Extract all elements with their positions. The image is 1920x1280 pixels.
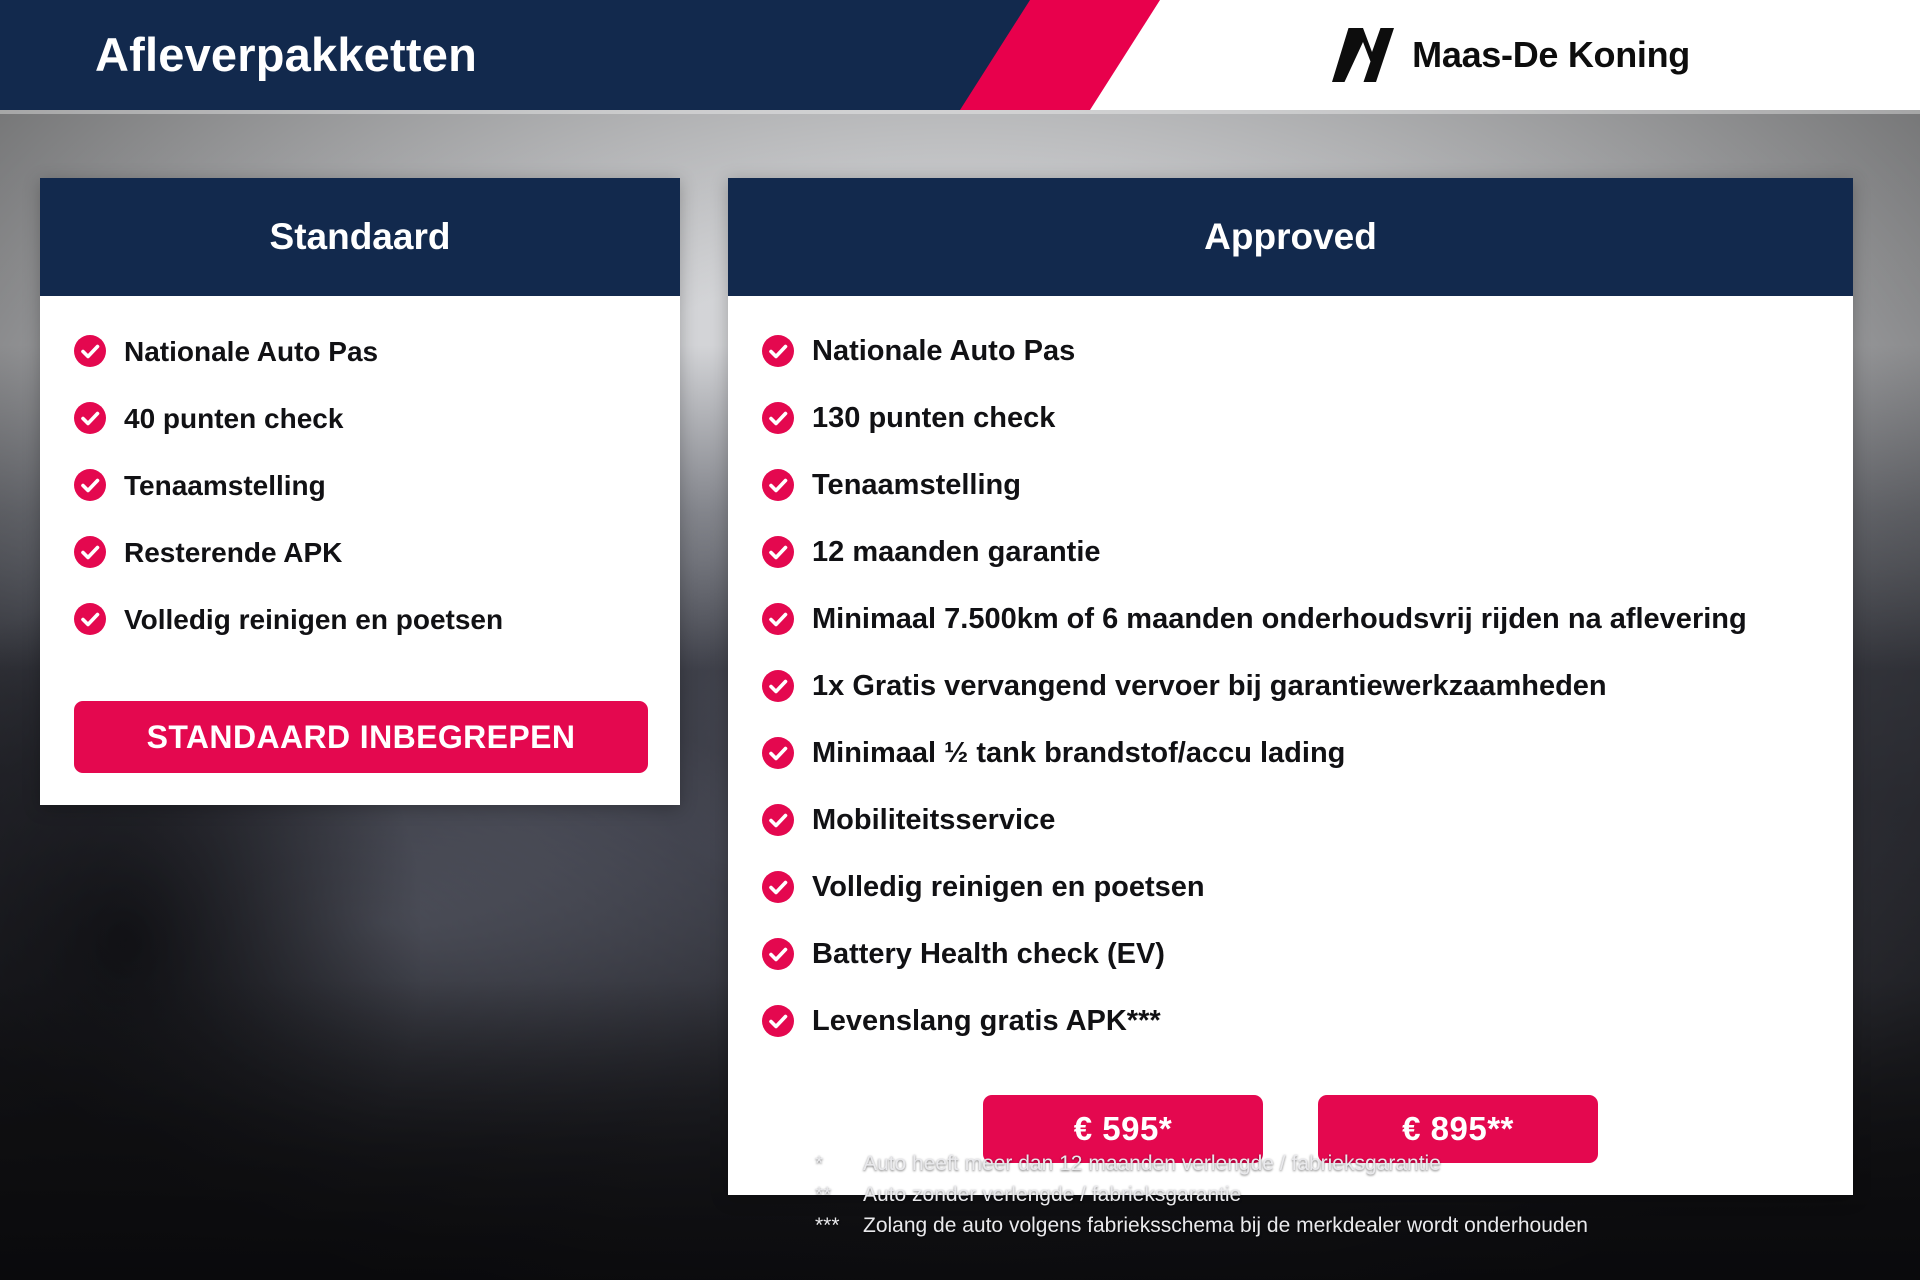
feature-label: Battery Health check (EV) (812, 927, 1819, 982)
page-header: Afleverpakketten Maas-De Koning (0, 0, 1920, 110)
feature-label: Mobiliteitsservice (812, 793, 1819, 848)
feature-item: 12 maanden garantie (728, 525, 1853, 580)
feature-item: Minimaal 7.500km of 6 maanden onderhouds… (728, 592, 1853, 647)
header-underline (0, 110, 1920, 114)
check-circle-icon (762, 737, 794, 769)
check-circle-icon (74, 469, 106, 501)
footnote-marker: *** (815, 1210, 863, 1241)
feature-label: Levenslang gratis APK*** (812, 994, 1819, 1049)
feature-item: 40 punten check (40, 391, 680, 446)
feature-label: 130 punten check (812, 391, 1819, 446)
feature-item: Nationale Auto Pas (728, 324, 1853, 379)
check-circle-icon (74, 402, 106, 434)
check-circle-icon (762, 804, 794, 836)
feature-label: Volledig reinigen en poetsen (812, 860, 1819, 915)
feature-label: 40 punten check (124, 391, 646, 446)
check-circle-icon (762, 536, 794, 568)
maas-de-koning-m-logo-icon (1332, 28, 1394, 82)
feature-item: Battery Health check (EV) (728, 927, 1853, 982)
check-circle-icon (762, 603, 794, 635)
brand-logo: Maas-De Koning (1332, 0, 1690, 110)
feature-label: Minimaal ½ tank brandstof/accu lading (812, 726, 1819, 781)
feature-label: 1x Gratis vervangend vervoer bij garanti… (812, 659, 1819, 714)
footnote-marker: * (815, 1148, 863, 1179)
feature-item: Nationale Auto Pas (40, 324, 680, 379)
feature-item: 1x Gratis vervangend vervoer bij garanti… (728, 659, 1853, 714)
card-body-approved: Nationale Auto Pas 130 punten check Tena… (728, 296, 1853, 1195)
feature-item: 130 punten check (728, 391, 1853, 446)
check-circle-icon (762, 402, 794, 434)
feature-label: Volledig reinigen en poetsen (124, 592, 646, 647)
slide-root: Afleverpakketten Maas-De Koning Standaar… (0, 0, 1920, 1280)
package-card-approved: Approved Nationale Auto Pas 130 punten c… (728, 178, 1853, 1195)
feature-item: Mobiliteitsservice (728, 793, 1853, 848)
standaard-inbegrepen-button[interactable]: STANDAARD INBEGREPEN (74, 701, 648, 773)
card-title-approved: Approved (728, 178, 1853, 296)
feature-label: Minimaal 7.500km of 6 maanden onderhouds… (812, 592, 1819, 647)
feature-label: 12 maanden garantie (812, 525, 1819, 580)
feature-item: Volledig reinigen en poetsen (728, 860, 1853, 915)
feature-label: Tenaamstelling (812, 458, 1819, 513)
feature-item: Minimaal ½ tank brandstof/accu lading (728, 726, 1853, 781)
check-circle-icon (762, 1005, 794, 1037)
feature-item: Tenaamstelling (728, 458, 1853, 513)
page-title: Afleverpakketten (95, 0, 477, 110)
check-circle-icon (762, 871, 794, 903)
footnote-marker: ** (815, 1179, 863, 1210)
check-circle-icon (762, 335, 794, 367)
feature-item: Levenslang gratis APK*** (728, 994, 1853, 1049)
check-circle-icon (74, 335, 106, 367)
feature-label: Resterende APK (124, 525, 646, 580)
feature-item: Volledig reinigen en poetsen (40, 592, 680, 647)
footnote-text: Auto heeft meer dan 12 maanden verlengde… (863, 1148, 1441, 1179)
footnotes: * Auto heeft meer dan 12 maanden verleng… (815, 1148, 1588, 1241)
check-circle-icon (74, 603, 106, 635)
footnote-row: *** Zolang de auto volgens fabrieksschem… (815, 1210, 1588, 1241)
feature-label: Nationale Auto Pas (124, 324, 646, 379)
feature-item: Tenaamstelling (40, 458, 680, 513)
footnote-row: * Auto heeft meer dan 12 maanden verleng… (815, 1148, 1588, 1179)
package-card-standaard: Standaard Nationale Auto Pas 40 punten c… (40, 178, 680, 805)
check-circle-icon (762, 469, 794, 501)
check-circle-icon (762, 938, 794, 970)
feature-label: Nationale Auto Pas (812, 324, 1819, 379)
card-body-standaard: Nationale Auto Pas 40 punten check Tenaa… (40, 296, 680, 805)
feature-item: Resterende APK (40, 525, 680, 580)
card-title-standaard: Standaard (40, 178, 680, 296)
feature-label: Tenaamstelling (124, 458, 646, 513)
brand-name: Maas-De Koning (1412, 34, 1690, 76)
footnote-text: Auto zonder verlengde / fabrieksgarantie (863, 1179, 1241, 1210)
check-circle-icon (74, 536, 106, 568)
footnote-row: ** Auto zonder verlengde / fabrieksgaran… (815, 1179, 1588, 1210)
check-circle-icon (762, 670, 794, 702)
footnote-text: Zolang de auto volgens fabrieksschema bi… (863, 1210, 1588, 1241)
